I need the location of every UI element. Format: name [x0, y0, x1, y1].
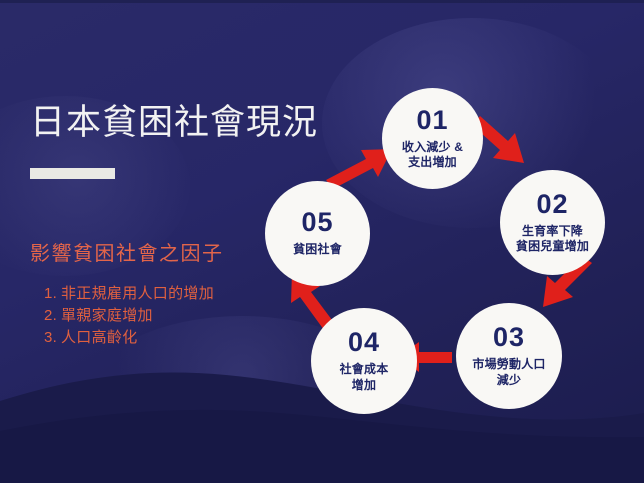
cycle-node-label: 社會成本 增加: [333, 362, 396, 393]
cycle-node-label: 貧困社會: [286, 242, 349, 257]
cycle-node-number: 05: [301, 209, 333, 236]
cycle-node-number: 03: [493, 324, 525, 351]
cycle-node-number: 01: [416, 107, 448, 134]
cycle-node-03[interactable]: 03 市場勞動人口 減少: [456, 303, 562, 409]
cycle-node-label: 收入減少 & 支出増加: [395, 140, 470, 171]
cycle-node-01[interactable]: 01 收入減少 & 支出増加: [382, 88, 483, 189]
cycle-node-05[interactable]: 05 貧困社會: [265, 181, 370, 286]
cycle-node-number: 02: [536, 191, 568, 218]
cycle-node-04[interactable]: 04 社會成本 增加: [311, 308, 417, 414]
cycle-node-label: 生育率下降 貧困兒童增加: [509, 224, 596, 255]
cycle-node-number: 04: [348, 329, 380, 356]
cycle-node-02[interactable]: 02 生育率下降 貧困兒童增加: [500, 170, 605, 275]
cycle-node-label: 市場勞動人口 減少: [465, 357, 552, 388]
slide-canvas: 日本貧困社會現況 影響貧困社會之因子 1.非正規雇用人口的增加 2.單親家庭增加…: [0, 0, 644, 483]
arrow-05-to-01: [326, 149, 392, 189]
